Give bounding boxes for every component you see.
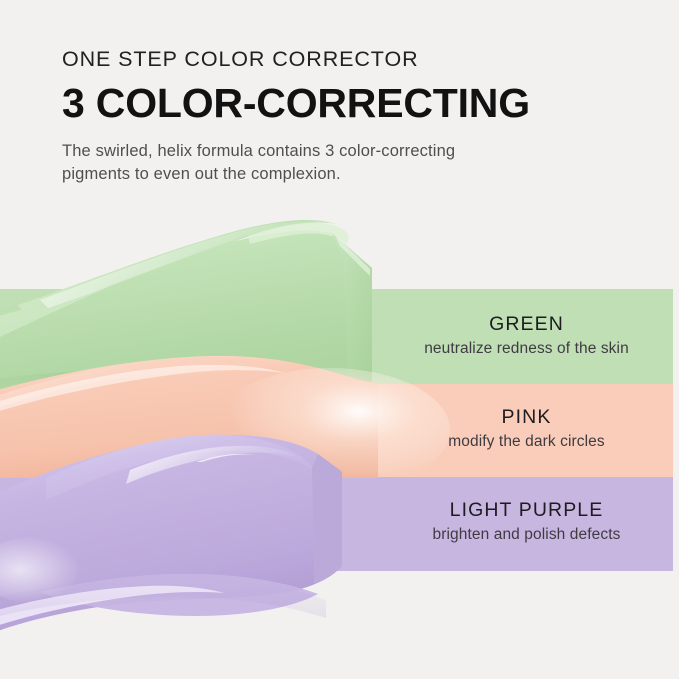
band-label-pink: PINK modify the dark circles xyxy=(380,406,673,452)
band-label-green: GREEN neutralize redness of the skin xyxy=(380,313,673,359)
band-label-purple: LIGHT PURPLE brighten and polish defects xyxy=(380,499,673,545)
subcopy-line-1: The swirled, helix formula contains 3 co… xyxy=(62,140,532,163)
eyebrow-text: ONE STEP COLOR CORRECTOR xyxy=(62,48,642,72)
band-description-pink: modify the dark circles xyxy=(380,433,673,452)
infographic-page: ONE STEP COLOR CORRECTOR 3 COLOR-CORRECT… xyxy=(0,0,679,679)
band-title-purple: LIGHT PURPLE xyxy=(380,499,673,521)
subcopy-text: The swirled, helix formula contains 3 co… xyxy=(62,140,532,187)
band-title-green: GREEN xyxy=(380,313,673,335)
band-title-pink: PINK xyxy=(380,406,673,428)
band-description-green: neutralize redness of the skin xyxy=(380,340,673,359)
band-description-purple: brighten and polish defects xyxy=(380,526,673,545)
page-title: 3 COLOR-CORRECTING xyxy=(62,81,642,127)
subcopy-line-2: pigments to even out the complexion. xyxy=(62,163,532,186)
header-block: ONE STEP COLOR CORRECTOR 3 COLOR-CORRECT… xyxy=(62,48,642,186)
